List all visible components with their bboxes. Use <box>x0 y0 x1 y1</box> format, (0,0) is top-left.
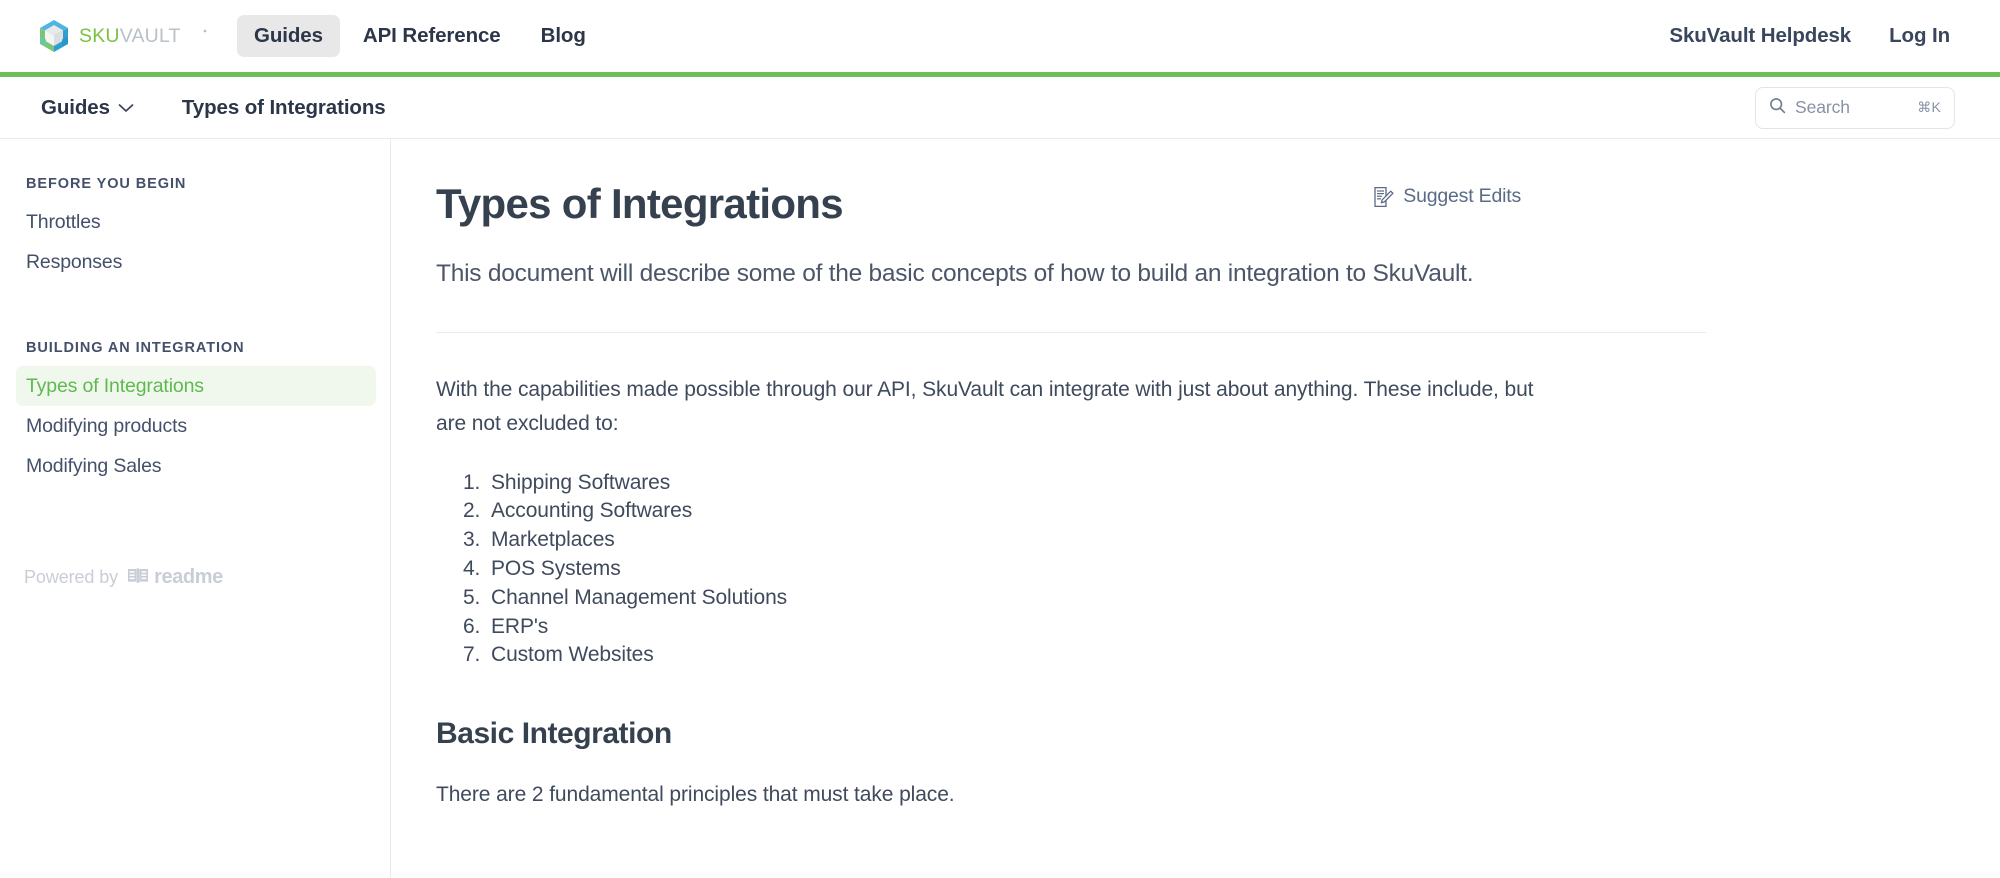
sidebar-item-types-of-integrations[interactable]: Types of Integrations <box>16 366 376 406</box>
sidebar-item-responses[interactable]: Responses <box>16 242 376 282</box>
suggest-edits-label: Suggest Edits <box>1403 185 1521 208</box>
search-shortcut-hint: ⌘K <box>1917 99 1941 116</box>
list-item: Channel Management Solutions <box>486 584 1706 613</box>
chevron-down-icon <box>118 103 134 113</box>
page-subtitle: This document will describe some of the … <box>436 257 1706 291</box>
subnav-guides-dropdown[interactable]: Guides <box>41 96 134 120</box>
suggest-edits-button[interactable]: Suggest Edits <box>1372 185 1521 208</box>
subnav-bar: Guides Types of Integrations Search ⌘K <box>0 77 2000 139</box>
nav-item-api-reference[interactable]: API Reference <box>346 15 518 57</box>
paragraph-basic-integration: There are 2 fundamental principles that … <box>436 778 1551 812</box>
nav-item-blog[interactable]: Blog <box>524 15 603 57</box>
svg-text:SKUVAULT: SKUVAULT <box>79 25 181 47</box>
sidebar-item-modifying-products[interactable]: Modifying products <box>16 406 376 446</box>
sidebar-section-title-building-an-integration: BUILDING AN INTEGRATION <box>26 340 366 356</box>
list-item: Custom Websites <box>486 641 1706 670</box>
primary-nav: Guides API Reference Blog <box>237 15 603 57</box>
nav-item-guides[interactable]: Guides <box>237 15 340 57</box>
brand-logo[interactable]: SKUVAULT <box>38 19 209 53</box>
sidebar-item-modifying-sales[interactable]: Modifying Sales <box>16 446 376 486</box>
powered-by-readme[interactable]: Powered by readme <box>24 566 223 589</box>
search-placeholder: Search <box>1795 97 1908 118</box>
document-edit-icon <box>1372 186 1394 208</box>
skuvault-cube-icon <box>38 19 70 53</box>
main-content: Suggest Edits Types of Integrations This… <box>391 139 2000 878</box>
sidebar-section-title-before-you-begin: BEFORE YOU BEGIN <box>26 176 366 192</box>
search-icon <box>1769 97 1786 119</box>
readme-wordmark: readme <box>154 566 223 589</box>
header-right-links: SkuVault Helpdesk Log In <box>1669 24 1962 48</box>
search-input[interactable]: Search ⌘K <box>1755 87 1955 129</box>
top-header: SKUVAULT Guides API Reference Blog SkuVa… <box>0 0 2000 72</box>
powered-by-label: Powered by <box>24 567 118 588</box>
link-log-in[interactable]: Log In <box>1889 24 1950 48</box>
readme-logo: readme <box>127 566 223 589</box>
list-item: Shipping Softwares <box>486 469 1706 498</box>
open-book-icon <box>127 567 149 589</box>
section-heading-basic-integration: Basic Integration <box>436 717 1706 751</box>
link-skuvault-helpdesk[interactable]: SkuVault Helpdesk <box>1669 24 1851 48</box>
sidebar-item-throttles[interactable]: Throttles <box>16 202 376 242</box>
list-item: POS Systems <box>486 555 1706 584</box>
breadcrumb-current-page[interactable]: Types of Integrations <box>182 96 386 120</box>
content-divider <box>436 332 1706 333</box>
list-item: Accounting Softwares <box>486 497 1706 526</box>
skuvault-wordmark: SKUVAULT <box>79 25 209 47</box>
integration-types-list: Shipping Softwares Accounting Softwares … <box>436 469 1706 670</box>
list-item: ERP's <box>486 613 1706 642</box>
sidebar: BEFORE YOU BEGIN Throttles Responses BUI… <box>0 139 391 878</box>
page-layout: BEFORE YOU BEGIN Throttles Responses BUI… <box>0 139 2000 878</box>
list-item: Marketplaces <box>486 526 1706 555</box>
paragraph-intro: With the capabilities made possible thro… <box>436 373 1551 441</box>
subnav-dropdown-label: Guides <box>41 96 110 120</box>
